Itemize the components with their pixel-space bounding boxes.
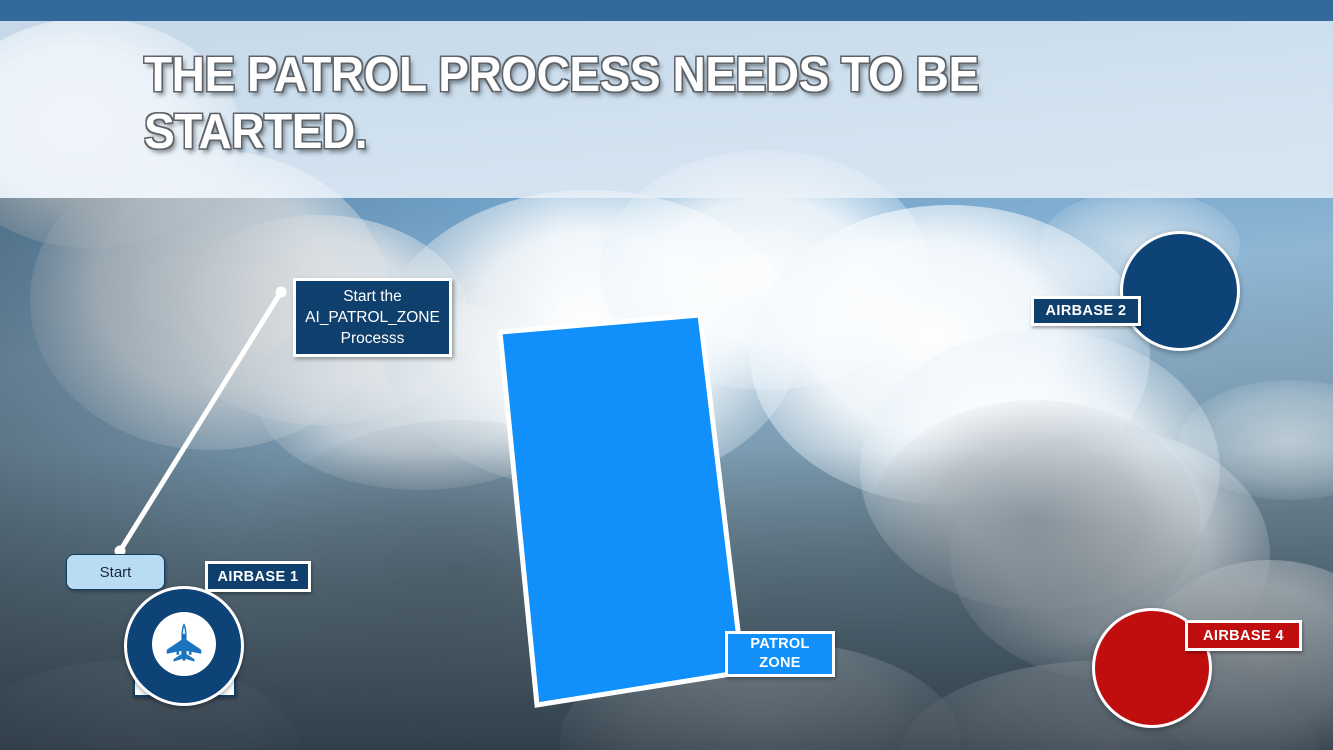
callout-start-process[interactable]: Start the AI_PATROL_ZONE Processs — [293, 278, 452, 357]
airbase-1-icon-circle — [152, 612, 216, 676]
airbase-2-circle[interactable] — [1120, 231, 1240, 351]
airbase-2-label[interactable]: AIRBASE 2 — [1031, 296, 1141, 326]
airbase-4-label[interactable]: AIRBASE 4 — [1185, 620, 1302, 651]
start-node-button[interactable]: Start — [66, 554, 165, 590]
fighter-jet-icon — [161, 621, 207, 667]
airbase-1-node[interactable] — [124, 586, 244, 678]
patrol-zone-label[interactable]: PATROL ZONE — [725, 631, 835, 677]
slide-canvas: THE PATROL PROCESS NEEDS TO BE STARTED. … — [0, 0, 1333, 750]
diagram-layer: Start the AI_PATROL_ZONE Processs — [0, 0, 1333, 750]
